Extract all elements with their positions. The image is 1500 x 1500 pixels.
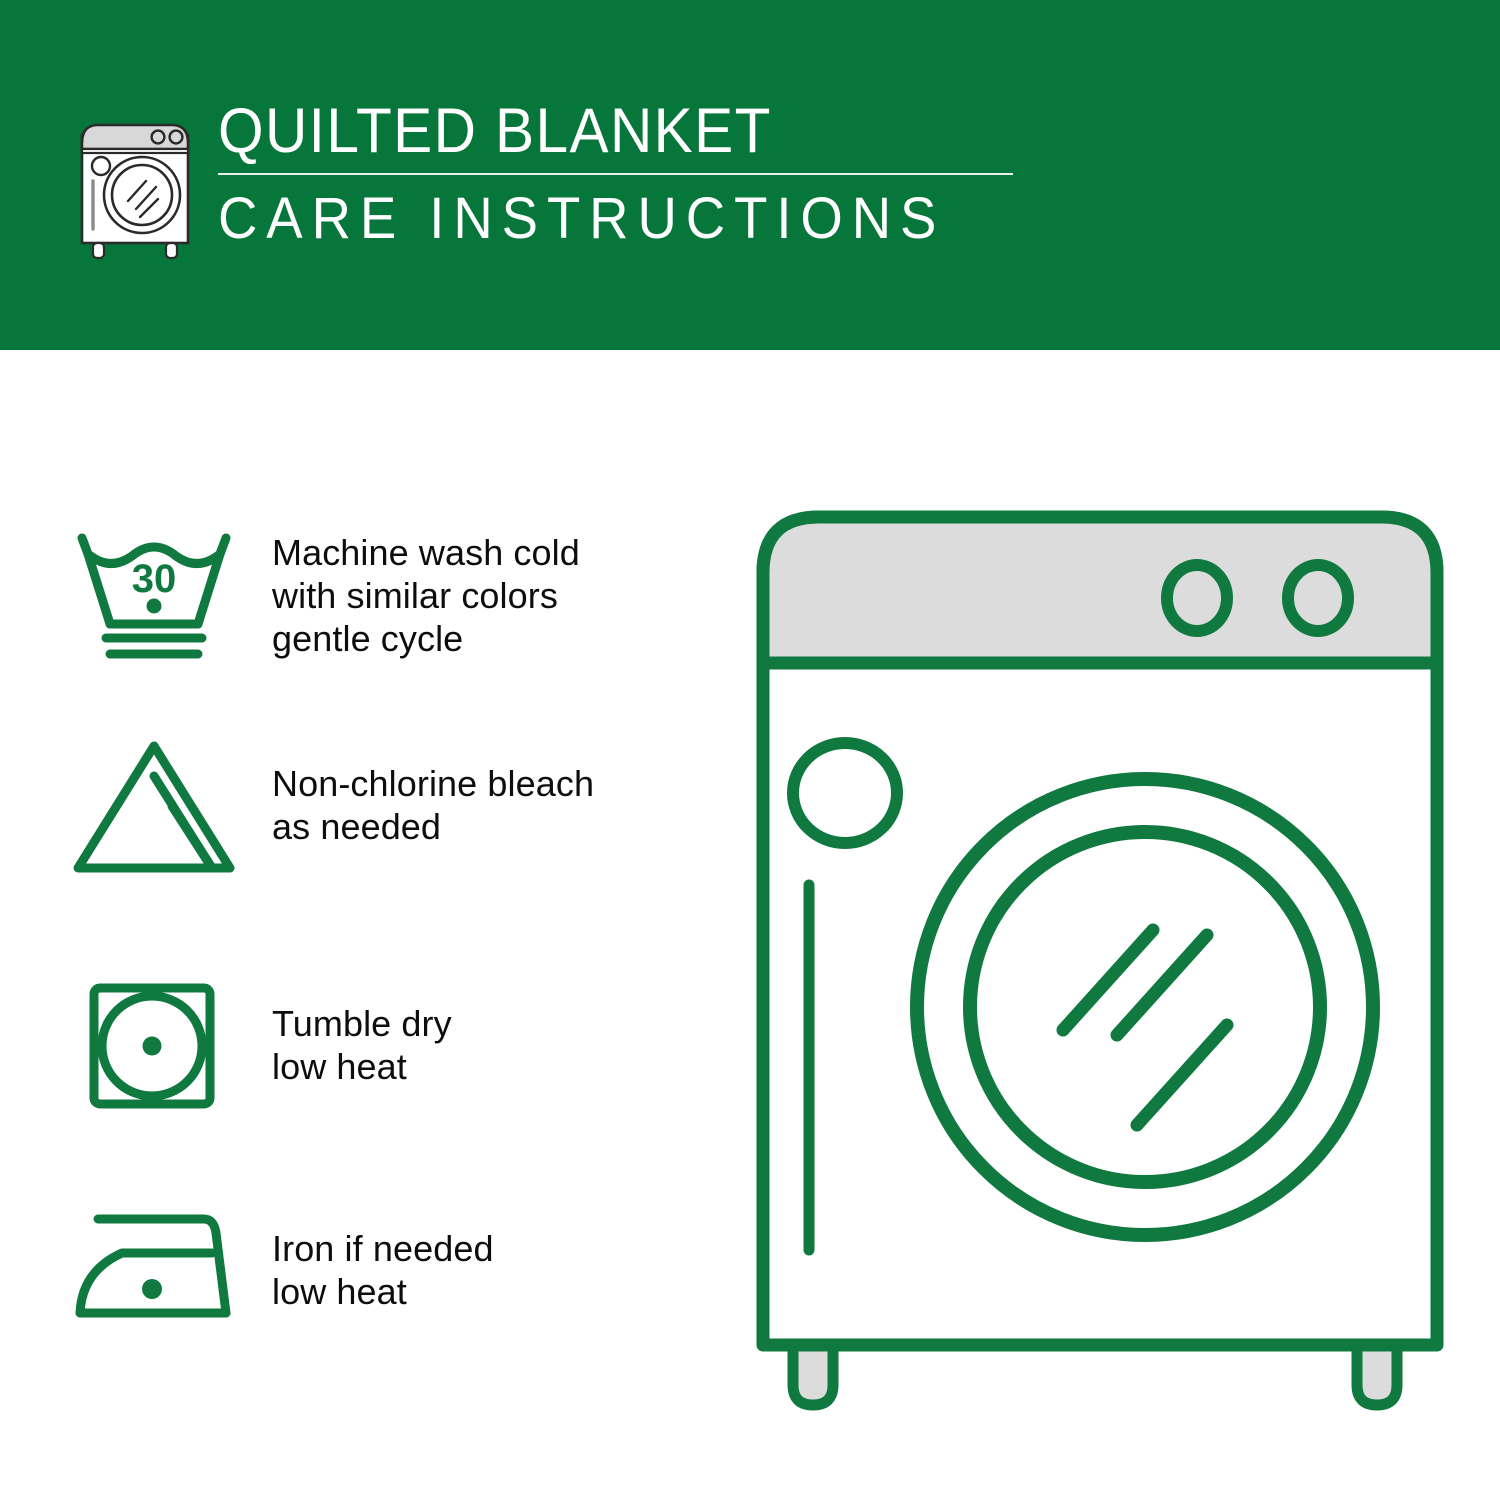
care-item-text-iron: Iron if needed low heat — [250, 1227, 720, 1313]
care-item-machine-wash: 30 Machine wash cold with similar colors… — [60, 520, 720, 670]
care-item-text-tumble-dry: Tumble dry low heat — [250, 1002, 720, 1088]
care-line-2: with similar colors — [272, 574, 720, 617]
wash-temperature-value: 30 — [132, 557, 177, 601]
tumble-dry-low-icon — [60, 970, 250, 1120]
non-chlorine-bleach-triangle-icon — [60, 730, 250, 880]
care-item-text-bleach: Non-chlorine bleach as needed — [250, 762, 720, 848]
care-item-tumble-dry: Tumble dry low heat — [60, 970, 720, 1120]
care-instructions-page: QUILTED BLANKET CARE INSTRUCTIONS — [0, 0, 1500, 1500]
header-band: QUILTED BLANKET CARE INSTRUCTIONS — [0, 0, 1500, 350]
care-line-2: low heat — [272, 1270, 720, 1313]
care-line-1: Non-chlorine bleach — [272, 762, 720, 805]
front-load-washing-machine-illustration — [745, 495, 1455, 1425]
page-subtitle: CARE INSTRUCTIONS — [218, 187, 1026, 251]
page-title: QUILTED BLANKET — [218, 95, 1018, 167]
care-line-3: gentle cycle — [272, 617, 720, 660]
care-line-2: as needed — [272, 805, 720, 848]
header-content: QUILTED BLANKET CARE INSTRUCTIONS — [60, 95, 1060, 275]
care-item-bleach: Non-chlorine bleach as needed — [60, 730, 720, 880]
title-divider — [218, 173, 1013, 175]
control-knob-1 — [1167, 565, 1227, 631]
care-item-text-machine-wash: Machine wash cold with similar colors ge… — [250, 531, 720, 660]
washing-machine-icon — [64, 105, 214, 265]
control-knob-2 — [1288, 565, 1348, 631]
care-line-1: Machine wash cold — [272, 531, 720, 574]
header-title-group: QUILTED BLANKET CARE INSTRUCTIONS — [218, 95, 1078, 251]
care-line-2: low heat — [272, 1045, 720, 1088]
detergent-port-icon — [793, 743, 897, 843]
care-instruction-list: 30 Machine wash cold with similar colors… — [0, 350, 740, 1500]
wash-basin-30-icon: 30 — [60, 520, 250, 670]
iron-low-heat-icon — [60, 1195, 250, 1345]
care-line-1: Tumble dry — [272, 1002, 720, 1045]
care-item-iron: Iron if needed low heat — [60, 1195, 720, 1345]
care-line-1: Iron if needed — [272, 1227, 720, 1270]
